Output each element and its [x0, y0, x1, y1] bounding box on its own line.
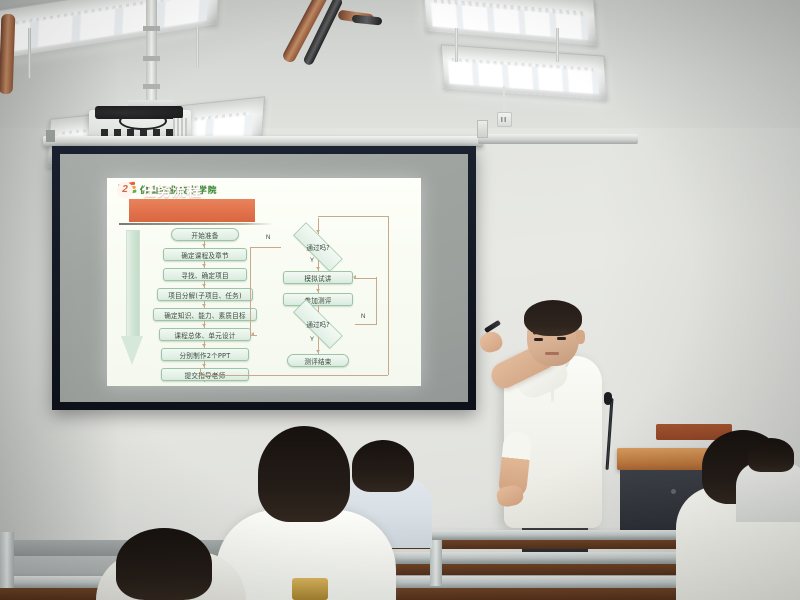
- connector-arrow-icon: [202, 324, 206, 327]
- screen-roller-housing-right: [478, 134, 638, 144]
- connector-arrow-icon: [202, 344, 206, 347]
- microphone-head: [604, 392, 612, 405]
- projector-mount-pole: [146, 0, 157, 106]
- connector-arrow-icon: [316, 350, 320, 353]
- connector-arrow-icon: [316, 289, 320, 292]
- branch-label-y1: Y: [310, 258, 314, 264]
- flow-node-project: 寻找、确定项目: [163, 268, 247, 281]
- slide-title-underline: [119, 223, 274, 225]
- screen-roller-bracket: [46, 130, 55, 142]
- branch-label-n2: N: [361, 314, 365, 320]
- connector-arrow-icon: [202, 264, 206, 267]
- branch-label-y2: Y: [310, 337, 314, 343]
- slide-title: 任务流程: [142, 181, 202, 201]
- wall-light-switch[interactable]: [477, 120, 488, 138]
- wall-power-outlet[interactable]: [497, 112, 512, 127]
- slide-section-number: 2: [117, 182, 133, 198]
- projection-screen-surface: 佛山职业技术学院 FOSHAN POLYTECHNIC 2 任务流程 开始准备 …: [60, 154, 468, 402]
- flow-node-course: 确定课程及章节: [163, 248, 247, 261]
- outlet-wire: [503, 86, 505, 114]
- connector-arrow-icon: [316, 267, 320, 270]
- connector-arrow-icon: [202, 304, 206, 307]
- connector-arrow-icon: [316, 230, 320, 233]
- connector: [318, 306, 319, 312]
- flow-node-design: 课程总体、单元设计: [159, 328, 251, 341]
- flow-node-end: 测评结束: [287, 354, 349, 367]
- presentation-slide: 佛山职业技术学院 FOSHAN POLYTECHNIC 2 任务流程 开始准备 …: [107, 178, 421, 386]
- flow-node-trial-lecture: 模拟试讲: [283, 271, 353, 284]
- branch-label-n1: N: [266, 235, 270, 241]
- connector: [376, 277, 377, 324]
- light-hanger-rod-1: [28, 28, 31, 78]
- podium-knob: [671, 489, 676, 494]
- presenter-eye-right: [557, 337, 566, 340]
- light-hanger-rod-4: [556, 28, 559, 62]
- flow-node-evaluation: 参加测评: [283, 293, 353, 306]
- light-hanger-rod-2: [196, 26, 199, 68]
- connector: [388, 216, 389, 375]
- process-direction-arrow-icon: [121, 230, 143, 365]
- flow-decision-pass-2: 通过吗?: [281, 311, 355, 337]
- connector: [250, 247, 251, 335]
- presenter-mouth: [545, 352, 559, 355]
- connector: [250, 247, 281, 248]
- seat-hardware: [292, 578, 328, 600]
- connector-arrow-icon: [251, 332, 254, 336]
- bench-leg-left: [0, 532, 14, 592]
- connector-arrow-icon: [202, 284, 206, 287]
- connector: [200, 375, 388, 376]
- flow-node-goals: 确定知识、能力、素质目标: [153, 308, 257, 321]
- connector: [354, 278, 377, 279]
- connector-arrow-icon: [202, 364, 206, 367]
- presenter-eye-left: [534, 338, 543, 341]
- presenter-ear: [576, 330, 585, 344]
- flow-decision-pass-1: 通过吗?: [281, 234, 355, 260]
- connector-arrow-icon: [353, 275, 356, 279]
- flow-node-start: 开始准备: [171, 228, 239, 241]
- flow-node-ppt: 分别制作2个PPT: [161, 348, 249, 361]
- connector: [200, 368, 201, 375]
- light-hanger-rod-3: [455, 28, 458, 62]
- connector: [355, 324, 377, 325]
- connector-arrow-icon: [202, 244, 206, 247]
- connector: [318, 216, 388, 217]
- flow-node-decompose: 项目分解(子项目、任务): [157, 288, 253, 301]
- slide-title-band: [129, 199, 255, 222]
- lecture-hall-scene: 佛山职业技术学院 FOSHAN POLYTECHNIC 2 任务流程 开始准备 …: [0, 0, 800, 600]
